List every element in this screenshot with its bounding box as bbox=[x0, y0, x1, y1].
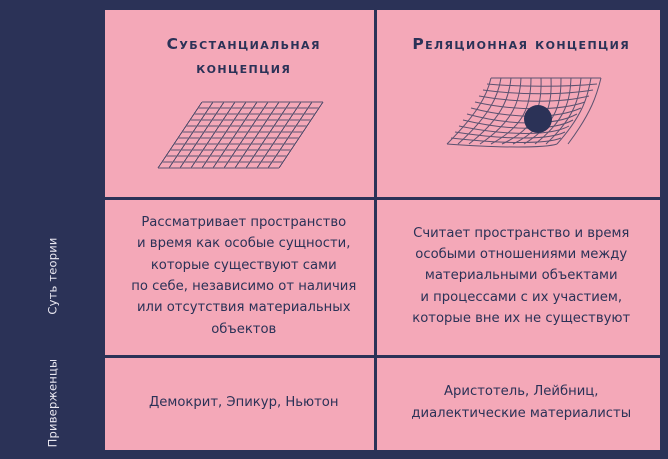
cell-followers-substantial: Демокрит, Эпикур, Ньютон bbox=[105, 355, 383, 450]
table-panel: Субстанциальная концепция bbox=[105, 10, 660, 450]
divider-vertical-columns bbox=[374, 10, 377, 450]
followers-text-relational: Аристотель, Лейбниц, диалектические мате… bbox=[411, 381, 631, 423]
theory-text-relational: Считает пространство и время особыми отн… bbox=[412, 223, 630, 330]
row-label-followers-text: Приверженцы bbox=[45, 358, 59, 447]
flat-grid-icon bbox=[156, 92, 332, 178]
header-cell-relational: Реляционная концепция bbox=[383, 10, 661, 197]
column-heading-substantial: Субстанциальная концепция bbox=[119, 32, 369, 80]
row-label-theory-text: Суть теории bbox=[45, 237, 59, 314]
cell-theory-relational: Считает пространство и время особыми отн… bbox=[383, 197, 661, 355]
column-heading-relational: Реляционная концепция bbox=[412, 32, 630, 56]
theory-text-substantial: Рассматривает пространство и время как о… bbox=[131, 212, 356, 340]
mass-sphere-icon bbox=[524, 105, 552, 133]
illustration-curved-grid bbox=[397, 68, 647, 154]
curved-grid-icon bbox=[433, 68, 609, 154]
cell-theory-substantial: Рассматривает пространство и время как о… bbox=[105, 197, 383, 355]
row-label-theory: Суть теории bbox=[0, 197, 105, 355]
row-label-followers: Приверженцы bbox=[0, 355, 105, 450]
header-cell-substantial: Субстанциальная концепция bbox=[105, 10, 383, 197]
comparison-table-diagram: Суть теории Приверженцы Субстанциальная … bbox=[0, 0, 668, 459]
table-grid: Субстанциальная концепция bbox=[105, 10, 660, 450]
divider-horizontal-header bbox=[105, 197, 660, 200]
divider-horizontal-followers bbox=[105, 355, 660, 358]
followers-text-substantial: Демокрит, Эпикур, Ньютон bbox=[149, 392, 339, 413]
illustration-flat-grid bbox=[119, 92, 369, 178]
cell-followers-relational: Аристотель, Лейбниц, диалектические мате… bbox=[383, 355, 661, 450]
